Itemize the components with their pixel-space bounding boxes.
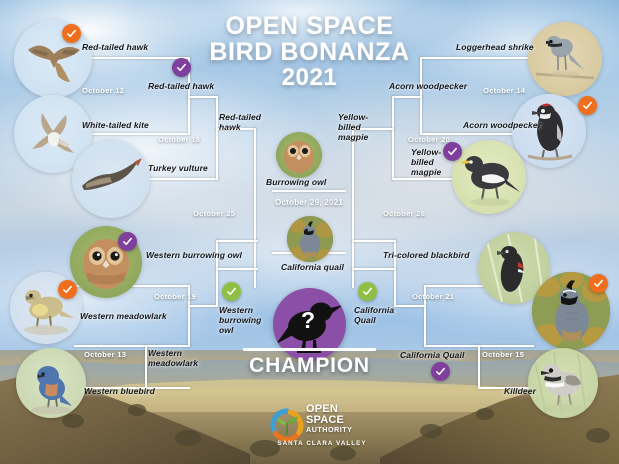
logo-subtitle: SANTA CLARA VALLEY <box>268 440 376 447</box>
bird-photo-loggerhead-shrike <box>528 22 602 96</box>
check-icon <box>176 62 187 73</box>
logo-line-1: OPEN <box>306 404 352 415</box>
bracket-line <box>392 96 394 180</box>
bracket-line <box>352 268 396 270</box>
winner-badge-green <box>358 282 377 301</box>
bracket-date-right-r4: October 26 <box>383 209 425 218</box>
bracket-date-right-r2-2: October 21 <box>412 292 454 301</box>
bracket-date-right-r2-1: October 20 <box>408 135 450 144</box>
check-icon <box>593 278 604 289</box>
bracket-line <box>216 240 258 242</box>
check-icon <box>582 100 593 111</box>
winner-badge-orange <box>578 96 597 115</box>
bracket-label-left-r4: Western burrowing owl <box>219 305 267 335</box>
title-line-1: OPEN SPACE <box>0 14 619 40</box>
bracket-label-right-r1-1: Loggerhead shrike <box>456 42 534 52</box>
bracket-line <box>352 128 354 288</box>
final-rule-top <box>272 190 346 192</box>
bracket-date-left-r1-1: October 12 <box>82 86 124 95</box>
winner-badge-orange <box>589 274 608 293</box>
bracket-line <box>394 305 426 307</box>
bracket-label-left-r3-1: Red-tailed hawk <box>219 112 263 132</box>
logo-wordmark: OPEN SPACE AUTHORITY <box>306 404 352 436</box>
champion-rule <box>243 348 376 351</box>
bracket-label-right-r1-4: Tri-colored blackbird <box>383 250 470 260</box>
bracket-line <box>188 96 218 98</box>
bracket-line <box>78 57 190 59</box>
bracket-line <box>352 240 396 242</box>
check-icon <box>66 28 77 39</box>
bracket-label-left-r2-2: Western burrowing owl <box>146 250 242 260</box>
logo-line-3: AUTHORITY <box>306 425 352 436</box>
bracket-label-right-r3-2: California Quail <box>354 305 398 325</box>
open-space-authority-logo: OPEN SPACE AUTHORITY SANTA CLARA VALLEY <box>268 402 376 450</box>
shrub <box>586 428 610 443</box>
champion-label: CHAMPION <box>0 354 619 378</box>
final-date: October 29, 2021 <box>275 198 343 207</box>
bracket-label-left-r2-1: Red-tailed hawk <box>148 81 214 91</box>
logo-mark-icon <box>270 408 304 442</box>
bracket-label-right-r1-6: Killdeer <box>504 386 536 396</box>
bird-photo-turkey-vulture <box>72 140 150 218</box>
winner-badge-orange <box>58 280 77 299</box>
bracket-label-left-r1-3: Turkey vulture <box>148 163 208 173</box>
bracket-label-right-r1-3: Yellow-billed magpie <box>411 147 463 177</box>
bracket-label-right-r3-1: Yellow-billed magpie <box>338 112 390 142</box>
winner-badge-purple <box>118 232 137 251</box>
logo-line-2: SPACE <box>306 415 352 426</box>
bracket-date-left-r2-1: October 18 <box>158 135 200 144</box>
bracket-label-left-r1-6: Western bluebird <box>84 386 155 396</box>
bracket-date-right-r1-1: October 14 <box>483 86 525 95</box>
bird-photo-yellow-billed-magpie <box>452 140 526 214</box>
semifinal-label-left: Burrowing owl <box>266 177 326 187</box>
winner-badge-green <box>222 282 241 301</box>
bird-photo-california-quail-final <box>287 216 333 262</box>
bracket-date-left-r2-2: October 19 <box>154 292 196 301</box>
shrub <box>420 424 442 438</box>
bracket-label-right-r2-1: Acorn woodpecker <box>389 81 467 91</box>
winner-badge-orange <box>62 24 81 43</box>
bracket-line <box>392 96 422 98</box>
shrub <box>476 408 494 420</box>
check-icon <box>226 286 237 297</box>
bracket-label-right-r1-2: Acorn woodpecker <box>463 120 541 130</box>
winner-badge-purple <box>172 58 191 77</box>
bracket-line <box>216 96 218 180</box>
bracket-line <box>420 57 530 59</box>
bracket-label-left-r1-5: Western meadowlark <box>80 311 167 321</box>
shrub <box>128 404 146 416</box>
bracket-label-left-r1-1: Red-tailed hawk <box>82 42 148 52</box>
check-icon <box>122 236 133 247</box>
check-icon <box>362 286 373 297</box>
final-winner-label: California quail <box>281 262 344 272</box>
bracket-line <box>216 268 258 270</box>
bracket-line <box>188 305 218 307</box>
bracket-date-left-r4: October 25 <box>193 209 235 218</box>
bracket-label-left-r1-2: White-tailed kite <box>82 120 149 130</box>
check-icon <box>62 284 73 295</box>
question-mark: ? <box>301 307 315 333</box>
shrub <box>175 430 201 446</box>
poster-title: OPEN SPACE BIRD BONANZA 2021 <box>0 14 619 91</box>
bracket-line <box>254 128 256 288</box>
bird-photo-burrowing-owl-semifinal <box>276 132 322 178</box>
poster-canvas: OPEN SPACE BIRD BONANZA 2021 <box>0 0 619 464</box>
bracket-line <box>74 345 190 347</box>
